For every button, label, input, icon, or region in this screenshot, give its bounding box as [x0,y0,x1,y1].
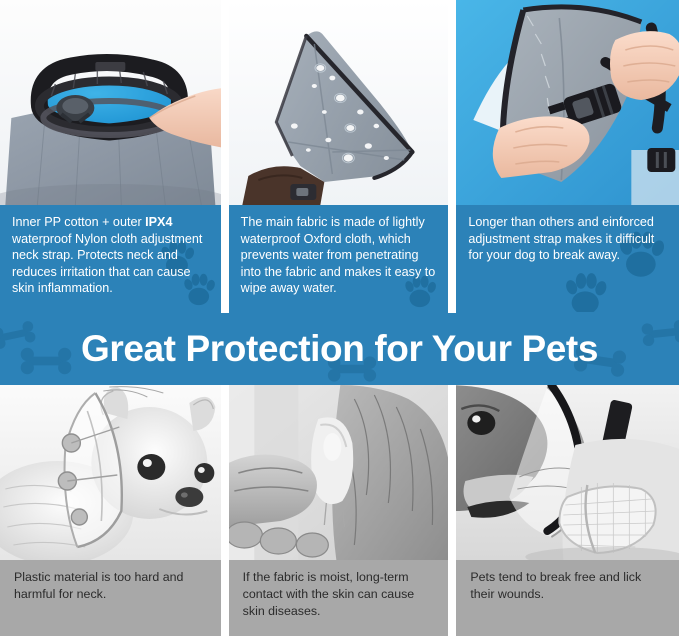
caption-lead-1: Inner PP cotton + outer [12,215,145,229]
reinforced-buckle-strap-image [456,0,679,205]
problem-caption-3: Pets tend to break free and lick their w… [456,560,679,636]
collar-neck-strap-closeup-image [0,0,221,205]
feature-caption-text-3: Longer than others and einforced adjustm… [468,214,667,264]
problem-card-3: Pets tend to break free and lick their w… [456,385,679,636]
feature-caption-text-1: Inner PP cotton + outer IPX4 waterproof … [12,214,209,297]
problem-row: Plastic material is too hard and harmful… [0,385,679,636]
caption-rest-1: waterproof Nylon cloth adjustment neck s… [12,232,202,296]
feature-caption-1: Inner PP cotton + outer IPX4 waterproof … [0,205,221,313]
problem-caption-1: Plastic material is too hard and harmful… [0,560,221,636]
feature-row: Inner PP cotton + outer IPX4 waterproof … [0,0,679,313]
problem-caption-2: If the fabric is moist, long-term contac… [229,560,449,636]
problem-card-2: If the fabric is moist, long-term contac… [229,385,449,636]
problem-card-1: Plastic material is too hard and harmful… [0,385,221,636]
page-title: Great Protection for Your Pets [81,328,598,370]
caption-bold-1: IPX4 [145,215,172,229]
feature-caption-text-2: The main fabric is made of lightly water… [241,214,437,297]
headline-banner: Great Protection for Your Pets [0,313,679,385]
wet-fur-paw-skin-disease-image [229,385,449,560]
feature-card-2: The main fabric is made of lightly water… [229,0,449,313]
feature-caption-3: Longer than others and einforced adjustm… [456,205,679,313]
dog-licking-bandaged-paw-image [456,385,679,560]
waterproof-oxford-cloth-droplets-image [229,0,449,205]
feature-caption-2: The main fabric is made of lightly water… [229,205,449,313]
dog-plastic-cone-hard-image [0,385,221,560]
feature-card-1: Inner PP cotton + outer IPX4 waterproof … [0,0,221,313]
feature-card-3: Longer than others and einforced adjustm… [456,0,679,313]
